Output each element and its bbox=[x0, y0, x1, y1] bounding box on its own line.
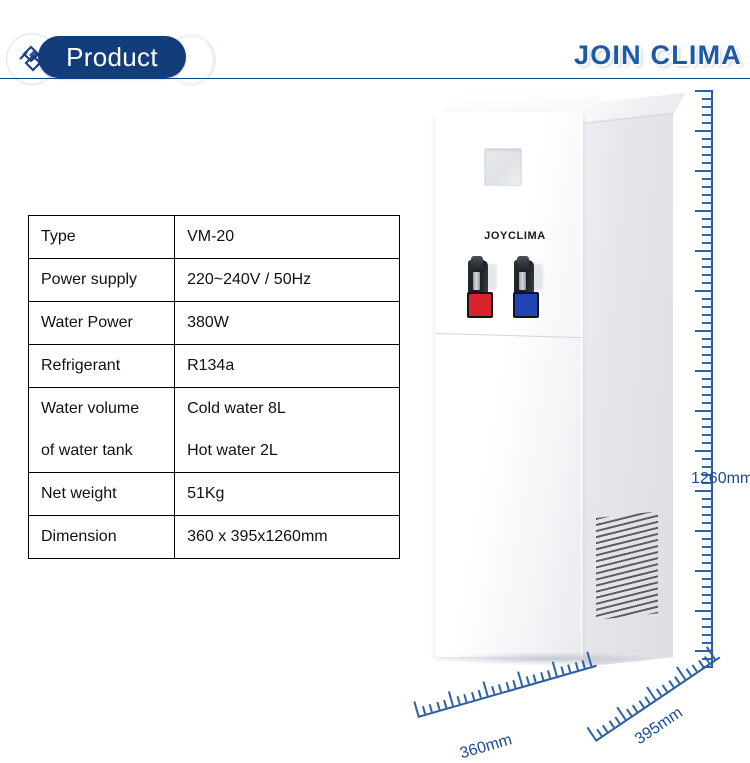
ruler-tick bbox=[702, 242, 711, 244]
spec-key: Power supply bbox=[29, 259, 175, 302]
ruler-tick bbox=[702, 514, 711, 516]
ruler-tick bbox=[464, 694, 468, 702]
ruler-tick bbox=[586, 651, 592, 666]
ruler-tick bbox=[695, 530, 711, 532]
ruler-tick bbox=[702, 394, 711, 396]
tap-push-pad[interactable] bbox=[467, 292, 493, 318]
spec-key-line-2: of water tank bbox=[41, 430, 174, 472]
ruler-tick bbox=[702, 146, 711, 148]
spec-value-line-1: Cold water 8L bbox=[187, 388, 399, 430]
ruler-tick bbox=[581, 660, 585, 668]
ruler-tick bbox=[702, 186, 711, 188]
ruler-tick bbox=[695, 410, 711, 412]
ruler-tick bbox=[471, 692, 475, 700]
ruler-tick bbox=[656, 688, 662, 696]
ruler-tick bbox=[702, 234, 711, 236]
spec-key: Dimension bbox=[29, 516, 175, 559]
spec-value: 380W bbox=[175, 302, 400, 345]
spec-key: Type bbox=[29, 216, 175, 259]
ruler-tick bbox=[614, 716, 620, 724]
ruler-tick bbox=[702, 154, 711, 156]
ruler-tick bbox=[702, 298, 711, 300]
ruler-tick bbox=[638, 700, 644, 708]
ruler-tick bbox=[702, 178, 711, 180]
page-header: Product JOIN CLIMA bbox=[0, 0, 750, 86]
ruler-tick bbox=[702, 378, 711, 380]
spec-value: 51Kg bbox=[175, 473, 400, 516]
ruler-tick bbox=[702, 426, 711, 428]
ruler-tick bbox=[695, 370, 711, 372]
table-row: Dimension 360 x 395x1260mm bbox=[29, 516, 400, 559]
ruler-spine bbox=[417, 665, 596, 718]
ruler-spine bbox=[711, 90, 713, 668]
ruler-tick bbox=[695, 250, 711, 252]
tap-stem bbox=[519, 270, 526, 290]
ruler-tick bbox=[540, 672, 544, 680]
ruler-tick bbox=[478, 690, 482, 698]
tap-lever[interactable] bbox=[517, 256, 529, 272]
tap-push-pad[interactable] bbox=[513, 292, 539, 318]
ruler-tick bbox=[702, 554, 711, 556]
ruler-tick bbox=[552, 661, 558, 676]
vent-grille-icon bbox=[596, 511, 658, 620]
ruler-tick bbox=[457, 696, 461, 704]
ruler-tick bbox=[702, 594, 711, 596]
ruler-tick bbox=[695, 490, 711, 492]
ruler-tick bbox=[413, 701, 419, 716]
product-badge-label: Product bbox=[38, 36, 186, 78]
dimension-height-label: 1260mm bbox=[691, 470, 750, 488]
ruler-tick bbox=[702, 466, 711, 468]
hot-water-tap[interactable] bbox=[465, 260, 493, 318]
ruler-tick bbox=[702, 306, 711, 308]
ruler-tick bbox=[702, 98, 711, 100]
ruler-tick bbox=[702, 586, 711, 588]
ruler-tick bbox=[695, 330, 711, 332]
ruler-tick bbox=[702, 418, 711, 420]
ruler-tick bbox=[422, 706, 426, 714]
ruler-tick bbox=[702, 522, 711, 524]
ruler-tick bbox=[561, 666, 565, 674]
spec-value-line-2: Hot water 2L bbox=[187, 430, 399, 472]
ruler-tick bbox=[616, 707, 626, 721]
ruler-tick bbox=[448, 691, 454, 706]
ruler-tick bbox=[662, 684, 668, 692]
ruler-tick bbox=[702, 338, 711, 340]
ruler-tick bbox=[674, 676, 680, 684]
table-row: Net weight 51Kg bbox=[29, 473, 400, 516]
cold-water-tap[interactable] bbox=[511, 260, 539, 318]
ruler-tick bbox=[574, 662, 578, 670]
table-row: Refrigerant R134a bbox=[29, 345, 400, 388]
ruler-tick bbox=[695, 130, 711, 132]
unit-edge-highlight bbox=[436, 116, 438, 654]
ruler-tick bbox=[526, 676, 530, 684]
ruler-tick bbox=[695, 290, 711, 292]
spec-value: R134a bbox=[175, 345, 400, 388]
ruler-tick bbox=[702, 618, 711, 620]
ruler-tick bbox=[505, 682, 509, 690]
ruler-tick bbox=[702, 498, 711, 500]
ruler-tick bbox=[695, 170, 711, 172]
spec-key: Net weight bbox=[29, 473, 175, 516]
ruler-tick bbox=[429, 704, 433, 712]
ruler-tick bbox=[668, 680, 674, 688]
ruler-tick bbox=[702, 106, 711, 108]
spec-key-line-1: Water volume bbox=[41, 388, 174, 430]
ruler-tick bbox=[702, 626, 711, 628]
ruler-tick bbox=[702, 314, 711, 316]
ruler-tick bbox=[632, 704, 638, 712]
ruler-tick bbox=[702, 226, 711, 228]
ruler-tick bbox=[695, 90, 711, 92]
ruler-tick bbox=[512, 680, 516, 688]
ruler-tick bbox=[702, 266, 711, 268]
dimension-width-label: 360mm bbox=[458, 731, 514, 763]
ruler-tick bbox=[702, 194, 711, 196]
ruler-tick bbox=[702, 282, 711, 284]
ruler-tick bbox=[608, 721, 614, 729]
ruler-tick bbox=[702, 634, 711, 636]
table-row: Water Power 380W bbox=[29, 302, 400, 345]
ruler-tick bbox=[695, 610, 711, 612]
table-row: Water volume of water tank Cold water 8L… bbox=[29, 388, 400, 473]
ruler-tick bbox=[702, 354, 711, 356]
ruler-tick bbox=[547, 670, 551, 678]
spec-value: VM-20 bbox=[175, 216, 400, 259]
ruler-tick bbox=[702, 258, 711, 260]
height-ruler bbox=[683, 90, 713, 668]
spec-value: 220~240V / 50Hz bbox=[175, 259, 400, 302]
ruler-tick bbox=[702, 506, 711, 508]
spec-key: Water volume of water tank bbox=[29, 388, 175, 473]
ruler-tick bbox=[702, 602, 711, 604]
unit-corner-edge bbox=[580, 114, 583, 661]
ruler-tick bbox=[443, 700, 447, 708]
product-section-badge: Product bbox=[38, 36, 186, 78]
display-panel bbox=[484, 148, 522, 186]
ruler-tick bbox=[702, 122, 711, 124]
ruler-tick bbox=[702, 218, 711, 220]
tap-stem bbox=[473, 270, 480, 290]
ruler-tick bbox=[702, 562, 711, 564]
ruler-tick bbox=[702, 346, 711, 348]
ruler-tick bbox=[702, 578, 711, 580]
ruler-tick bbox=[702, 202, 711, 204]
ruler-tick bbox=[644, 696, 650, 704]
ruler-tick bbox=[702, 458, 711, 460]
ruler-tick bbox=[702, 442, 711, 444]
ruler-tick bbox=[586, 727, 596, 741]
ruler-tick bbox=[698, 660, 704, 668]
tap-lever[interactable] bbox=[471, 256, 483, 272]
unit-brand-label: JOYCLIMA bbox=[455, 230, 575, 242]
product-illustration: JOYCLIMA 1260mm 360mm 395mm bbox=[400, 86, 750, 735]
ruler-tick bbox=[517, 671, 523, 686]
brand-wordmark: JOIN CLIMA bbox=[574, 40, 742, 71]
ruler-tick bbox=[436, 702, 440, 710]
table-row: Power supply 220~240V / 50Hz bbox=[29, 259, 400, 302]
ruler-tick bbox=[692, 664, 698, 672]
table-row: Type VM-20 bbox=[29, 216, 400, 259]
ruler-tick bbox=[702, 538, 711, 540]
ruler-tick bbox=[704, 656, 710, 664]
ruler-tick bbox=[702, 322, 711, 324]
ruler-tick bbox=[702, 386, 711, 388]
ruler-tick bbox=[702, 434, 711, 436]
spec-key: Water Power bbox=[29, 302, 175, 345]
ruler-tick bbox=[706, 646, 716, 660]
unit-front-face bbox=[435, 112, 583, 657]
ruler-tick bbox=[702, 546, 711, 548]
ruler-tick bbox=[702, 274, 711, 276]
ruler-tick bbox=[695, 450, 711, 452]
ruler-tick bbox=[646, 687, 656, 701]
ruler-tick bbox=[686, 668, 692, 676]
ruler-tick bbox=[533, 674, 537, 682]
ruler-tick bbox=[483, 681, 489, 696]
ruler-tick bbox=[702, 162, 711, 164]
spec-value: 360 x 395x1260mm bbox=[175, 516, 400, 559]
ruler-tick bbox=[676, 666, 686, 680]
ruler-tick bbox=[702, 138, 711, 140]
ruler-tick bbox=[596, 729, 602, 737]
ruler-tick bbox=[491, 686, 495, 694]
ruler-tick bbox=[695, 210, 711, 212]
ruler-tick bbox=[626, 708, 632, 716]
ruler-tick bbox=[602, 725, 608, 733]
ruler-tick bbox=[702, 402, 711, 404]
ruler-tick bbox=[695, 570, 711, 572]
ruler-tick bbox=[702, 114, 711, 116]
specification-table: Type VM-20 Power supply 220~240V / 50Hz … bbox=[28, 215, 400, 559]
spec-key: Refrigerant bbox=[29, 345, 175, 388]
ruler-tick bbox=[567, 664, 571, 672]
ruler-tick bbox=[702, 362, 711, 364]
header-divider bbox=[0, 78, 750, 79]
ruler-tick bbox=[498, 684, 502, 692]
spec-value: Cold water 8L Hot water 2L bbox=[175, 388, 400, 473]
